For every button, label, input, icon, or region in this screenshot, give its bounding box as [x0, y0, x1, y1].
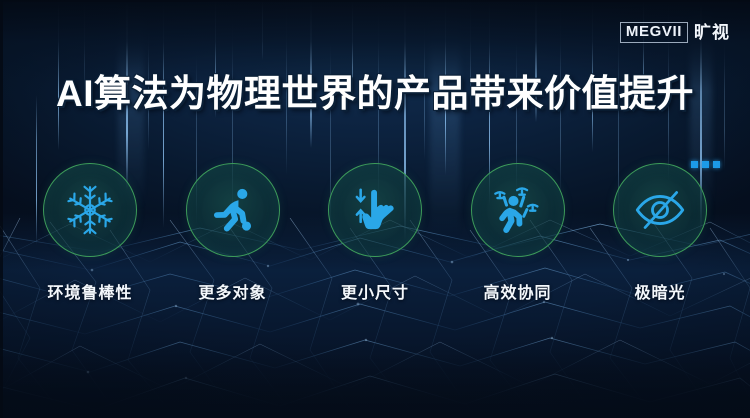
- running-person-icon: [206, 183, 260, 237]
- pinch-hand-icon: [348, 183, 402, 237]
- feature-item-more-objects[interactable]: 更多对象: [173, 163, 293, 303]
- feature-label: 更多对象: [173, 279, 293, 303]
- page-indicator[interactable]: [691, 161, 720, 168]
- feature-icon-circle: [43, 163, 137, 257]
- person-with-drones-icon: [489, 181, 547, 239]
- feature-icon-circle: [613, 163, 707, 257]
- megvii-logo[interactable]: MEGVII 旷视: [620, 22, 730, 43]
- page-title: AI算法为物理世界的产品带来价值提升: [0, 74, 750, 115]
- slide-canvas: MEGVII 旷视 AI算法为物理世界的产品带来价值提升: [0, 0, 750, 418]
- feature-row: 环境鲁棒性 更多对象: [30, 163, 720, 303]
- feature-item-smaller-size[interactable]: 更小尺寸: [315, 163, 435, 303]
- feature-item-collaboration[interactable]: 高效协同: [458, 163, 578, 303]
- feature-icon-circle: [186, 163, 280, 257]
- feature-icon-circle: [328, 163, 422, 257]
- feature-label: 极暗光: [600, 279, 720, 303]
- feature-label: 高效协同: [458, 279, 578, 303]
- feature-icon-circle: [471, 163, 565, 257]
- indicator-dot[interactable]: [691, 161, 698, 168]
- feature-item-robustness[interactable]: 环境鲁棒性: [30, 163, 150, 303]
- feature-label: 更小尺寸: [315, 279, 435, 303]
- feature-item-low-light[interactable]: 极暗光: [600, 163, 720, 303]
- snowflake-icon: [63, 183, 117, 237]
- feature-label: 环境鲁棒性: [30, 279, 150, 303]
- logo-wordmark: MEGVII: [620, 22, 688, 43]
- logo-chinese-name: 旷视: [694, 24, 730, 41]
- eye-slash-icon: [632, 182, 688, 238]
- indicator-dot[interactable]: [702, 161, 709, 168]
- indicator-dot[interactable]: [713, 161, 720, 168]
